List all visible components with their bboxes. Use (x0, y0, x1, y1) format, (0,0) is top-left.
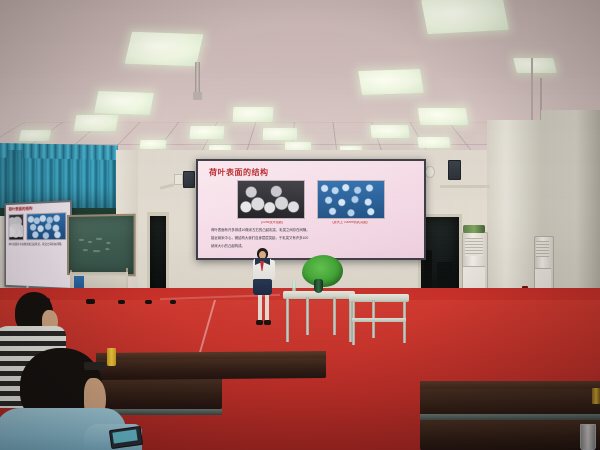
demo-table-right-leg (352, 301, 355, 345)
chalk-mark (79, 239, 84, 241)
presenter-shoe-left (256, 320, 263, 325)
wall-speaker-left (183, 171, 195, 188)
chalk-mark (105, 248, 109, 250)
presenter-skirt (253, 279, 272, 295)
presenter-leg-left (258, 295, 262, 322)
ceiling-hanging-device (193, 92, 202, 100)
ceiling-hanging-device (195, 62, 200, 96)
ceiling-light-panel (19, 130, 51, 141)
chalk-mark (106, 242, 110, 244)
presenter-arm-right (270, 260, 275, 280)
chalk-mark (83, 249, 88, 251)
presenter-shoe-right (264, 320, 271, 325)
sem-thumb-gray (9, 214, 24, 241)
ceiling-light-panel (140, 140, 167, 149)
floor-cable-box (170, 300, 176, 304)
floor-cable-box (118, 300, 125, 304)
ceiling-light-panel (370, 125, 409, 138)
classroom-photo: 荷叶表面的结构 (10×6放大倍数) (放大上 100nm的乳突图) 荷叶表面有… (0, 0, 600, 450)
floor-cable-box (86, 299, 95, 304)
ceiling-light-panel (358, 69, 423, 95)
ceiling-light-panel (263, 128, 297, 140)
chalk-mark (93, 250, 100, 252)
presenter-leg-right (265, 295, 269, 322)
wall-control-box-left (174, 174, 183, 185)
sem-thumb-blue (26, 212, 66, 240)
demo-table-left-leg (333, 297, 336, 335)
slide-caption-blue: (放大上 100nm的乳突图) (317, 221, 383, 225)
floor-cable-box (145, 300, 152, 304)
wall-conduit (440, 185, 490, 188)
secondary-screen-title: 荷叶表面的结构 (9, 204, 71, 212)
ceiling-light-panel (94, 91, 154, 115)
right-desk-bottle (592, 388, 600, 404)
wall-speaker-right (448, 160, 461, 180)
ac-top-clutter (463, 225, 485, 233)
ceiling-hanging-rod (531, 58, 533, 124)
doorway-left[interactable] (150, 216, 166, 296)
slide-body-line-1: 荷叶表面有许多排成10微米左右的凸起乳突，乳突之间存在间隙。 (211, 228, 411, 233)
secondary-screen-image-row (9, 212, 68, 240)
audience-bench (96, 358, 326, 380)
ceiling-light-panel (513, 58, 557, 73)
ceiling-light-panel (74, 115, 119, 131)
yellow-cup[interactable] (107, 348, 116, 366)
water-bottle (292, 281, 296, 292)
ac-vent-left (465, 238, 483, 256)
slide-title: 荷叶表面的结构 (209, 167, 417, 178)
demo-table-left-leg (286, 298, 289, 342)
demo-table-right-leg (403, 301, 406, 343)
secondary-display-screen[interactable]: 荷叶表面的结构 荷叶表面有许多微米级凸起乳突，乳突之间存在间隙。 (4, 200, 72, 290)
desk-item-notebook (84, 362, 106, 370)
slide-body-line-2: 接近纳米中心，微结构大我们自身层层突起，于乳突又有许多100 (211, 236, 411, 241)
demo-table-left-leg (306, 297, 309, 335)
chalk-mark (88, 241, 92, 243)
chalk-mark (96, 238, 102, 240)
ceiling-light-panel (421, 0, 509, 34)
slide-caption-gray: (10×6放大倍数) (239, 221, 305, 225)
ceiling-light-panel (125, 32, 204, 67)
slide-caption-row: (10×6放大倍数) (放大上 100nm的乳突图) (205, 221, 417, 225)
secondary-screen-body: 荷叶表面有许多微米级凸起乳突，乳突之间存在间隙。 (9, 243, 68, 247)
slide-content: 荷叶表面的结构 (10×6放大倍数) (放大上 100nm的乳突图) 荷叶表面有… (198, 161, 424, 258)
demo-table-right-top (349, 294, 409, 302)
drinking-glass[interactable] (580, 424, 596, 450)
dark-vase (314, 279, 323, 293)
slide-body-line-3: 纳米大小的凸起构成。 (211, 244, 411, 249)
ceiling-light-panel (418, 108, 468, 125)
sem-micrograph-blue (317, 180, 385, 219)
sem-micrograph-gray (237, 180, 305, 219)
audience-desk-right-front (420, 420, 600, 450)
green-chalkboard[interactable] (67, 214, 136, 277)
demo-table-right-shelf (352, 318, 406, 322)
led-display-screen[interactable]: 荷叶表面的结构 (10×6放大倍数) (放大上 100nm的乳突图) 荷叶表面有… (196, 159, 426, 260)
ceiling-light-panel (417, 137, 450, 148)
ceiling-light-panel (189, 126, 224, 139)
ac-vent-right (536, 241, 549, 257)
curtain-far-right (8, 150, 22, 204)
ceiling-light-panel (233, 107, 274, 122)
wall-control-box-right (425, 166, 435, 178)
slide-image-row (205, 180, 417, 219)
